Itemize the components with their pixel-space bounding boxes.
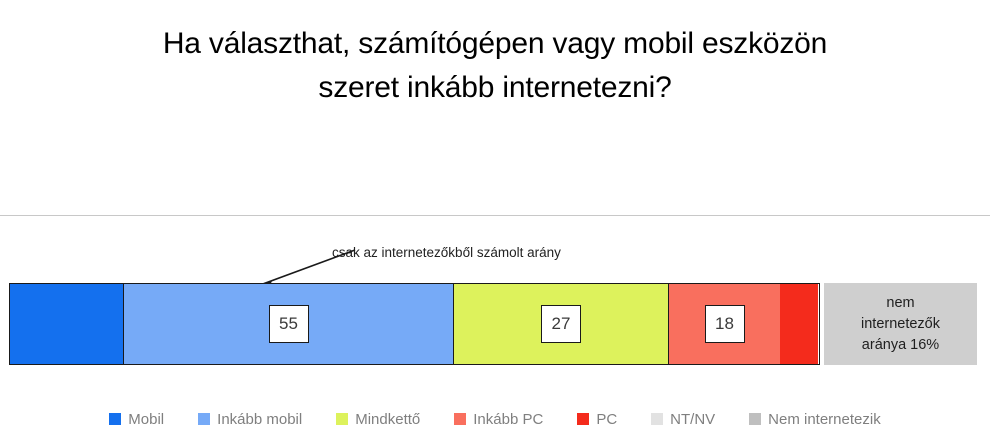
- legend-item-inkabb-mobil[interactable]: Inkább mobil: [198, 411, 302, 428]
- legend-swatch-icon: [198, 413, 210, 425]
- chart-legend: Mobil Inkább mobil Mindkettő Inkább PC P…: [0, 404, 990, 434]
- legend-label: Mobil: [128, 411, 164, 428]
- header-divider: [0, 215, 990, 216]
- bar-segment-pc[interactable]: [780, 284, 818, 364]
- legend-label: Inkább mobil: [217, 411, 302, 428]
- legend-item-mobil[interactable]: Mobil: [109, 411, 164, 428]
- legend-item-mindketto[interactable]: Mindkettő: [336, 411, 420, 428]
- non-internet-line-3: aránya 16%: [862, 335, 939, 356]
- legend-swatch-icon: [454, 413, 466, 425]
- non-internet-line-2: internetezők: [861, 314, 940, 335]
- legend-item-pc[interactable]: PC: [577, 411, 617, 428]
- value-label-mindketto: 27: [541, 305, 581, 343]
- stacked-bar: 55 27 18: [9, 283, 820, 365]
- annotation-label: csak az internetezőkből számolt arány: [332, 245, 561, 260]
- legend-label: Inkább PC: [473, 411, 543, 428]
- legend-item-nem-internetezik[interactable]: Nem internetezik: [749, 411, 881, 428]
- legend-swatch-icon: [749, 413, 761, 425]
- legend-label: Nem internetezik: [768, 411, 881, 428]
- legend-label: NT/NV: [670, 411, 715, 428]
- legend-swatch-icon: [109, 413, 121, 425]
- value-label-inkabb-pc: 18: [705, 305, 745, 343]
- bar-segment-mindketto[interactable]: 27: [453, 284, 668, 364]
- legend-swatch-icon: [336, 413, 348, 425]
- bar-segment-mobil[interactable]: [10, 284, 123, 364]
- non-internet-line-1: nem: [886, 293, 914, 314]
- page-title: Ha választhat, számítógépen vagy mobil e…: [0, 22, 990, 110]
- title-line-1: Ha választhat, számítógépen vagy mobil e…: [0, 22, 990, 66]
- legend-item-inkabb-pc[interactable]: Inkább PC: [454, 411, 543, 428]
- legend-item-ntnv[interactable]: NT/NV: [651, 411, 715, 428]
- title-line-2: szeret inkább internetezni?: [0, 66, 990, 110]
- slide-canvas: Ha választhat, számítógépen vagy mobil e…: [0, 0, 990, 442]
- bar-segment-inkabb-pc[interactable]: 18: [668, 284, 780, 364]
- legend-label: PC: [596, 411, 617, 428]
- legend-swatch-icon: [577, 413, 589, 425]
- legend-swatch-icon: [651, 413, 663, 425]
- non-internet-users-note: nem internetezők aránya 16%: [824, 283, 977, 365]
- bar-segment-inkabb-mobil[interactable]: 55: [123, 284, 453, 364]
- legend-label: Mindkettő: [355, 411, 420, 428]
- value-label-inkabb-mobil: 55: [269, 305, 309, 343]
